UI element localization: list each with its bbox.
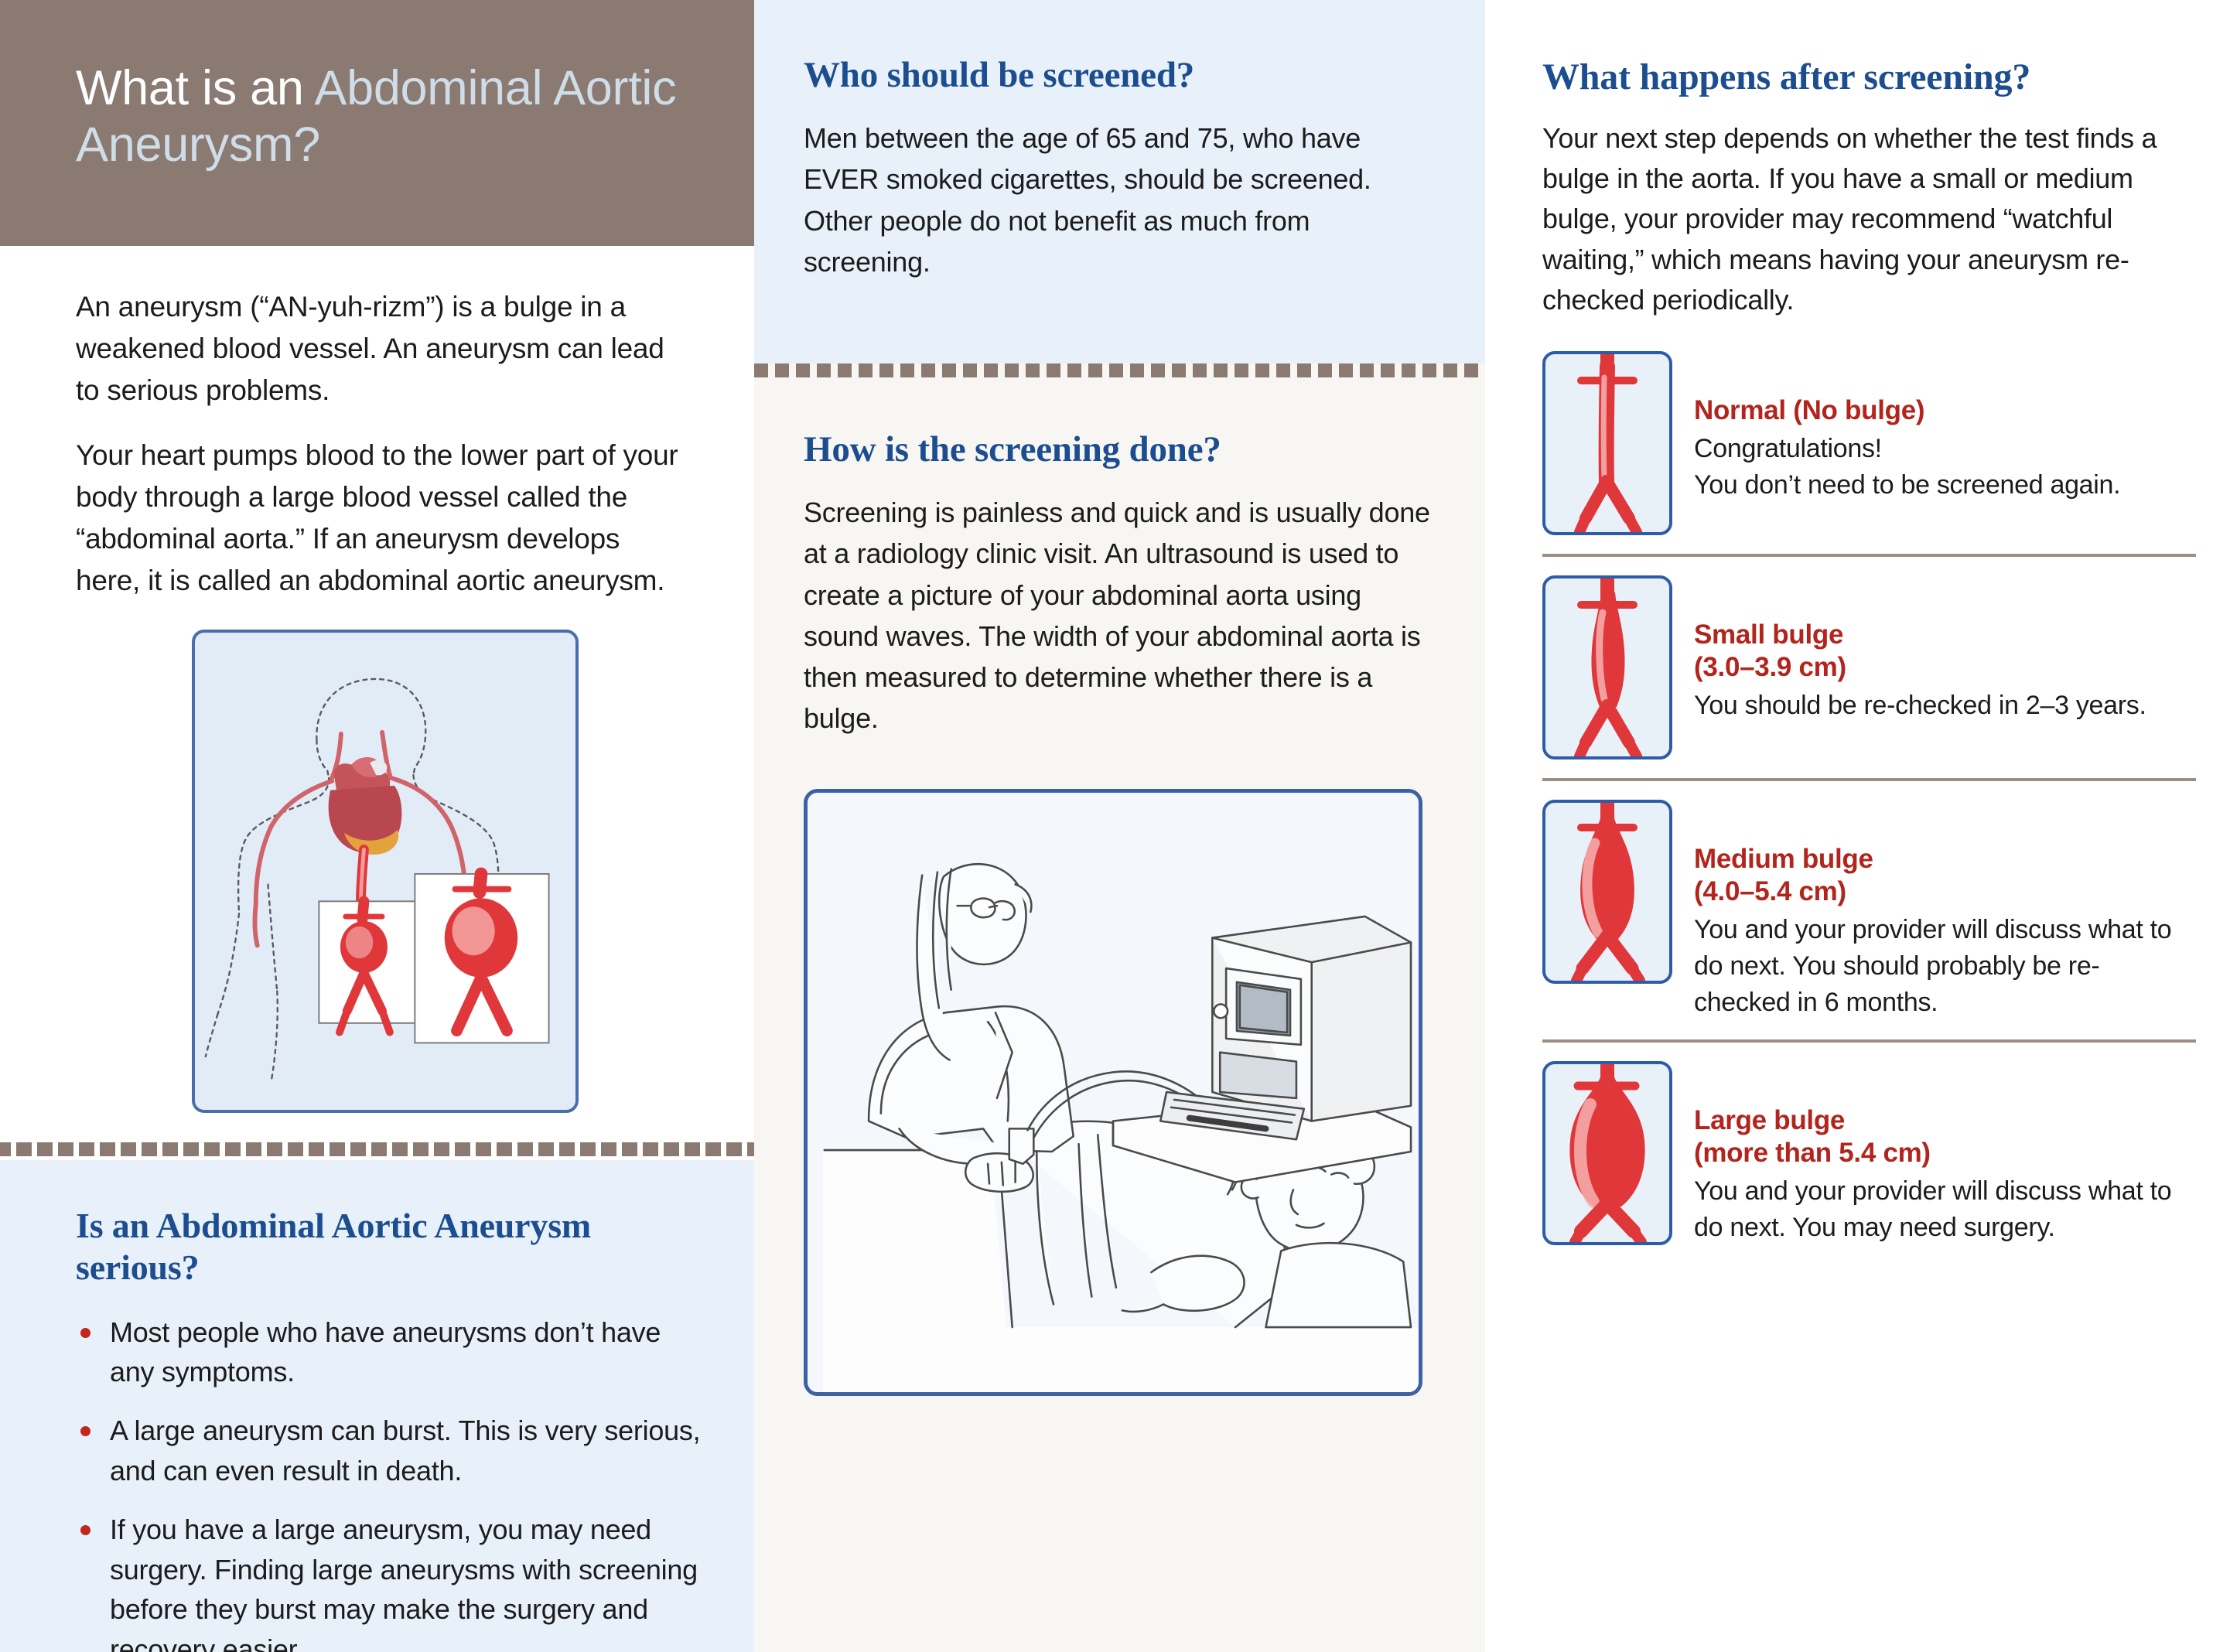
main-title-banner: What is an Abdominal AorticAneurysm? bbox=[0, 0, 754, 246]
how-screening-heading: How is the screening done? bbox=[804, 428, 1431, 470]
row-divider bbox=[1542, 778, 2196, 781]
ultrasound-exam-svg bbox=[808, 793, 1419, 1392]
after-screening-heading: What happens after screening? bbox=[1542, 56, 2194, 98]
aorta-small-bulge-icon bbox=[1542, 575, 1672, 759]
status-badge: Small bulge (3.0–3.9 cm) bbox=[1694, 619, 2146, 684]
result-row-small-bulge: Small bulge (3.0–3.9 cm) You should be r… bbox=[1542, 575, 2194, 759]
who-screened-heading: Who should be screened? bbox=[804, 54, 1420, 96]
aorta-medium-bulge-svg bbox=[1545, 803, 1669, 981]
after-screening-intro: Your next step depends on whether the te… bbox=[1542, 118, 2194, 320]
title-part-blue: Abdominal Aortic bbox=[314, 61, 676, 115]
who-should-be-screened-section: Who should be screened? Men between the … bbox=[754, 0, 1485, 364]
who-screened-body: Men between the age of 65 and 75, who ha… bbox=[804, 118, 1420, 282]
torso-aorta-svg bbox=[195, 633, 575, 1110]
right-column: What happens after screening? Your next … bbox=[1485, 0, 2230, 1652]
result-text-normal: Normal (No bulge) Congratulations! You d… bbox=[1694, 351, 2120, 503]
result-description: You should be re-checked in 2–3 years. bbox=[1694, 688, 2146, 724]
status-badge: Medium bulge (4.0–5.4 cm) bbox=[1694, 843, 2194, 908]
result-text-large-bulge: Large bulge (more than 5.4 cm) You and y… bbox=[1694, 1061, 2194, 1246]
aorta-medium-bulge-icon bbox=[1542, 800, 1672, 984]
intro-paragraph-1: An aneurysm (“AN-yuh-rizm”) is a bulge i… bbox=[76, 286, 683, 411]
status-badge: Normal (No bulge) bbox=[1694, 394, 2120, 427]
middle-column: Who should be screened? Men between the … bbox=[754, 0, 1485, 1652]
list-item: If you have a large aneurysm, you may ne… bbox=[76, 1510, 703, 1652]
brochure-page: What is an Abdominal AorticAneurysm? An … bbox=[0, 0, 2230, 1652]
left-column: What is an Abdominal AorticAneurysm? An … bbox=[0, 0, 754, 1652]
row-divider bbox=[1542, 1039, 2196, 1043]
aorta-large-bulge-icon bbox=[1542, 1061, 1672, 1245]
left-dashed-separator bbox=[0, 1142, 754, 1156]
middle-dashed-separator bbox=[754, 364, 1485, 377]
aorta-normal-icon bbox=[1542, 351, 1672, 535]
aorta-normal-svg bbox=[1545, 354, 1669, 532]
result-text-small-bulge: Small bulge (3.0–3.9 cm) You should be r… bbox=[1694, 575, 2146, 724]
result-description: Congratulations! You don’t need to be sc… bbox=[1694, 431, 2120, 503]
aorta-large-bulge-svg bbox=[1545, 1064, 1669, 1242]
aorta-small-bulge-svg bbox=[1545, 579, 1669, 756]
left-serious-section: Is an Abdominal Aortic Aneurysm serious?… bbox=[0, 1160, 754, 1652]
list-item: A large aneurysm can burst. This is very… bbox=[76, 1411, 703, 1490]
result-row-normal: Normal (No bulge) Congratulations! You d… bbox=[1542, 351, 2194, 535]
result-row-medium-bulge: Medium bulge (4.0–5.4 cm) You and your p… bbox=[1542, 800, 2194, 1021]
status-badge: Large bulge (more than 5.4 cm) bbox=[1694, 1104, 2194, 1169]
how-screening-done-section: How is the screening done? Screening is … bbox=[754, 377, 1485, 1396]
row-divider bbox=[1542, 554, 2196, 557]
serious-bullet-list: Most people who have aneurysms don’t hav… bbox=[76, 1312, 703, 1652]
result-row-large-bulge: Large bulge (more than 5.4 cm) You and y… bbox=[1542, 1061, 2194, 1246]
ultrasound-exam-illustration bbox=[804, 789, 1422, 1396]
result-description: You and your provider will discuss what … bbox=[1694, 1173, 2194, 1246]
title-part-blue-2: Aneurysm? bbox=[76, 118, 320, 172]
list-item: Most people who have aneurysms don’t hav… bbox=[76, 1312, 703, 1392]
title-part-white: What is an bbox=[76, 61, 314, 115]
intro-paragraph-2: Your heart pumps blood to the lower part… bbox=[76, 435, 683, 602]
result-description: You and your provider will discuss what … bbox=[1694, 912, 2194, 1021]
result-text-medium-bulge: Medium bulge (4.0–5.4 cm) You and your p… bbox=[1694, 800, 2194, 1021]
left-intro-body: An aneurysm (“AN-yuh-rizm”) is a bulge i… bbox=[0, 246, 754, 1154]
serious-heading: Is an Abdominal Aortic Aneurysm serious? bbox=[76, 1205, 703, 1289]
torso-aorta-illustration bbox=[192, 630, 579, 1113]
how-screening-body: Screening is painless and quick and is u… bbox=[804, 492, 1431, 739]
page-title: What is an Abdominal AorticAneurysm? bbox=[76, 60, 686, 173]
